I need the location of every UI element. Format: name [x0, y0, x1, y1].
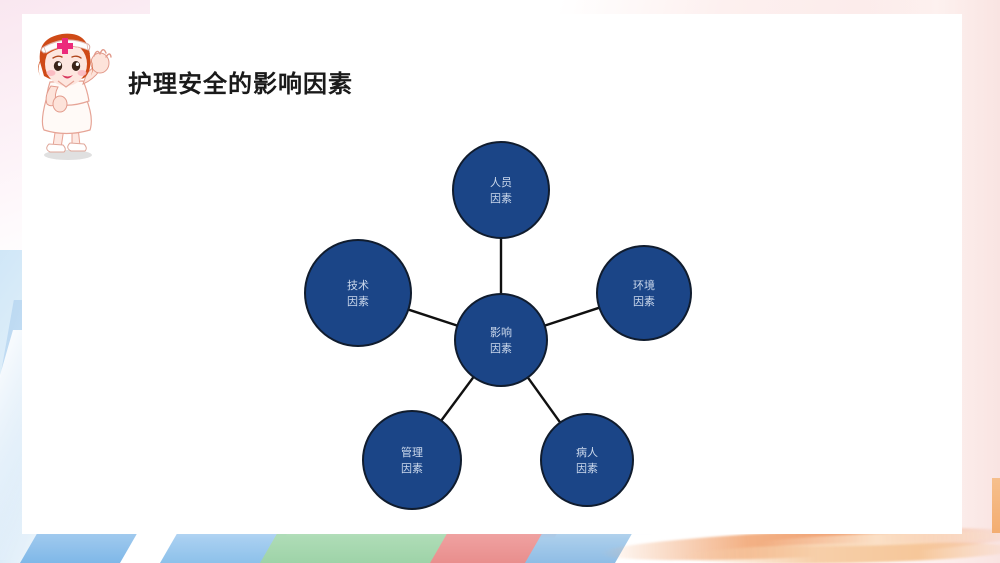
- node-management[interactable]: 管理因素: [363, 411, 461, 509]
- node-label-management-line2: 因素: [401, 462, 423, 475]
- node-label-center-line1: 影响: [490, 326, 512, 339]
- connector-center-to-management: [440, 375, 475, 422]
- node-environment[interactable]: 环境因素: [597, 246, 691, 340]
- node-technical[interactable]: 技术因素: [305, 240, 411, 346]
- connector-center-to-environment: [543, 307, 601, 326]
- node-label-center-line2: 因素: [490, 342, 512, 355]
- connector-center-to-technical: [406, 309, 459, 326]
- connector-center-to-patient: [527, 376, 562, 424]
- node-label-technical-line1: 技术: [347, 279, 369, 292]
- node-label-personnel-line2: 因素: [490, 192, 512, 205]
- node-label-patient-line2: 因素: [576, 462, 598, 475]
- node-label-patient-line1: 病人: [576, 445, 598, 459]
- node-center[interactable]: 影响因素: [455, 294, 547, 386]
- node-label-personnel-line1: 人员: [490, 176, 512, 189]
- node-circle-patient[interactable]: [541, 414, 633, 506]
- node-circle-management[interactable]: [363, 411, 461, 509]
- node-circle-center[interactable]: [455, 294, 547, 386]
- node-circle-technical[interactable]: [305, 240, 411, 346]
- diagram-nodes: 人员因素环境因素病人因素管理因素技术因素影响因素: [305, 142, 691, 509]
- node-circle-environment[interactable]: [597, 246, 691, 340]
- slide-canvas: 护理安全的影响因素 人员因素环境因素病人因素管理因素技术因素影响因素: [0, 0, 1000, 563]
- node-patient[interactable]: 病人因素: [541, 414, 633, 506]
- influence-factors-diagram: 人员因素环境因素病人因素管理因素技术因素影响因素: [0, 0, 1000, 563]
- node-personnel[interactable]: 人员因素: [453, 142, 549, 238]
- node-label-environment-line2: 因素: [633, 295, 655, 308]
- node-label-environment-line1: 环境: [633, 278, 655, 292]
- node-label-technical-line2: 因素: [347, 295, 369, 308]
- node-circle-personnel[interactable]: [453, 142, 549, 238]
- node-label-management-line1: 管理: [401, 445, 423, 459]
